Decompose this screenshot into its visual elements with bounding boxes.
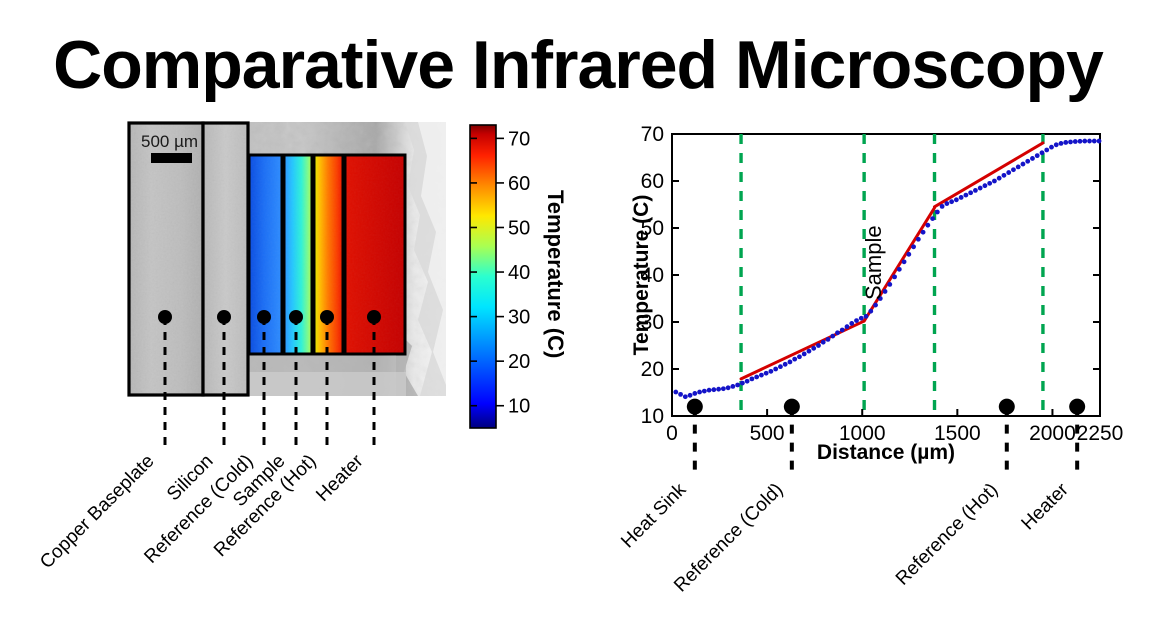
chart-data-point	[845, 324, 850, 329]
colorbar-tick-label-20: 20	[508, 351, 530, 373]
chart-data-point	[868, 309, 873, 314]
chart-data-point	[697, 390, 702, 395]
chart-data-point	[816, 343, 821, 348]
chart-data-point	[711, 387, 716, 392]
chart-data-point	[897, 267, 902, 272]
chart-data-point	[992, 179, 997, 184]
chart-data-point	[830, 334, 835, 339]
chart-data-point	[864, 314, 869, 319]
chart-data-point	[854, 318, 859, 323]
chart-data-point	[963, 193, 968, 198]
chart-data-point	[1011, 167, 1016, 172]
chart-data-point	[745, 379, 750, 384]
chart-data-point	[716, 387, 721, 392]
chart-data-point	[1040, 150, 1045, 155]
chart-data-point	[973, 188, 978, 193]
colorbar-tick-label-10: 10	[508, 396, 530, 418]
chart-data-point	[797, 354, 802, 359]
chart-x-tick-label-0: 0	[666, 422, 678, 445]
chart-data-point	[997, 176, 1002, 181]
chart-data-point	[707, 388, 712, 393]
chart-x-tick-label-2000: 2000	[1029, 422, 1076, 445]
colorbar-tick-label-30: 30	[508, 307, 530, 329]
chart-data-point	[754, 375, 759, 380]
chart-y-tick-label-60: 60	[641, 170, 664, 193]
chart-data-point	[740, 381, 745, 386]
chart-data-point	[1044, 148, 1049, 153]
chart-data-point	[1068, 140, 1073, 145]
chart-data-point	[821, 340, 826, 345]
scale-bar-bar	[151, 153, 192, 163]
chart-data-point	[692, 391, 697, 396]
chart-data-point	[940, 204, 945, 209]
colorbar-tick-label-60: 60	[508, 173, 530, 195]
chart-data-point	[1063, 140, 1068, 145]
chart-data-point	[1006, 170, 1011, 175]
chart-data-point	[807, 349, 812, 354]
chart-data-point	[1030, 156, 1035, 161]
chart-data-point	[783, 362, 788, 367]
chart-data-point	[921, 230, 926, 235]
chart-data-point	[788, 360, 793, 365]
chart-data-point	[778, 364, 783, 369]
chart-data-point	[1087, 139, 1092, 144]
chart-data-point	[902, 259, 907, 264]
chart-data-point	[935, 210, 940, 215]
chart-data-point	[759, 373, 764, 378]
region-sample[interactable]	[284, 155, 312, 354]
chart-plot-frame	[672, 134, 1100, 416]
chart-y-tick-label-20: 20	[641, 358, 664, 381]
chart-data-point	[1021, 162, 1026, 167]
chart-annotation-sample: Sample	[861, 225, 886, 300]
chart-data-point	[678, 392, 683, 397]
chart-data-point	[802, 352, 807, 357]
chart-data-point	[726, 385, 731, 390]
chart-data-point	[987, 181, 992, 186]
chart-data-point	[983, 183, 988, 188]
chart-data-point	[873, 303, 878, 308]
chart-data-point	[735, 383, 740, 388]
chart-data-point	[916, 237, 921, 242]
colorbar-gradient	[470, 125, 496, 428]
chart-x-tick-label-500: 500	[750, 422, 785, 445]
chart-data-point	[954, 197, 959, 202]
chart-data-point	[968, 190, 973, 195]
chart-data-point	[1025, 159, 1030, 164]
chart-data-point	[749, 376, 754, 381]
chart-data-point	[688, 393, 693, 398]
chart-y-axis-label: Temperature (C)	[630, 195, 653, 356]
chart-data-point	[959, 195, 964, 200]
chart-x-tick-label-2250: 2250	[1077, 422, 1124, 445]
scale-bar-label: 500 µm	[141, 132, 198, 151]
chart-data-point	[1049, 145, 1054, 150]
chart-data-point	[849, 321, 854, 326]
chart-x-axis-label: Distance (µm)	[817, 441, 955, 464]
chart-data-point	[906, 252, 911, 257]
chart-data-point	[949, 199, 954, 204]
colorbar-tick-label-50: 50	[508, 217, 530, 239]
chart-data-point	[930, 216, 935, 221]
chart-data-point	[840, 328, 845, 333]
chart-data-point	[944, 201, 949, 206]
chart-data-point	[811, 346, 816, 351]
chart-data-point	[1092, 139, 1097, 144]
chart-data-point	[911, 244, 916, 249]
chart-data-point	[730, 384, 735, 389]
chart-data-point	[721, 386, 726, 391]
chart-data-point	[859, 316, 864, 321]
colorbar-title: Temperature (C)	[543, 190, 568, 358]
chart-data-point	[1002, 173, 1007, 178]
colorbar-tick-label-40: 40	[508, 262, 530, 284]
chart-data-point	[773, 367, 778, 372]
chart-data-point	[835, 330, 840, 335]
chart-data-point	[1078, 139, 1083, 144]
chart-data-point	[1016, 165, 1021, 170]
chart-data-point	[1073, 139, 1078, 144]
chart-data-point	[764, 371, 769, 376]
chart-data-point	[1054, 142, 1059, 147]
chart-y-tick-label-10: 10	[641, 405, 664, 428]
comparative-infrared-microscopy-figure: Comparative Infrared Microscopy	[0, 0, 1156, 624]
chart-data-point	[978, 186, 983, 191]
chart-data-point	[925, 223, 930, 228]
chart-y-tick-label-70: 70	[641, 123, 664, 146]
page-title: Comparative Infrared Microscopy	[53, 27, 1104, 103]
chart-data-point	[769, 369, 774, 374]
chart-data-point	[1059, 141, 1064, 146]
colorbar-tick-label-70: 70	[508, 128, 530, 150]
chart-data-point	[792, 357, 797, 362]
chart-data-point	[702, 389, 707, 394]
chart-data-point	[1035, 153, 1040, 158]
chart-data-point	[1082, 139, 1087, 144]
chart-data-point	[1097, 139, 1102, 144]
chart-data-point	[673, 390, 678, 395]
chart-data-point	[683, 394, 688, 399]
chart-data-point	[892, 274, 897, 279]
chart-data-point	[887, 282, 892, 287]
chart-data-point	[826, 337, 831, 342]
